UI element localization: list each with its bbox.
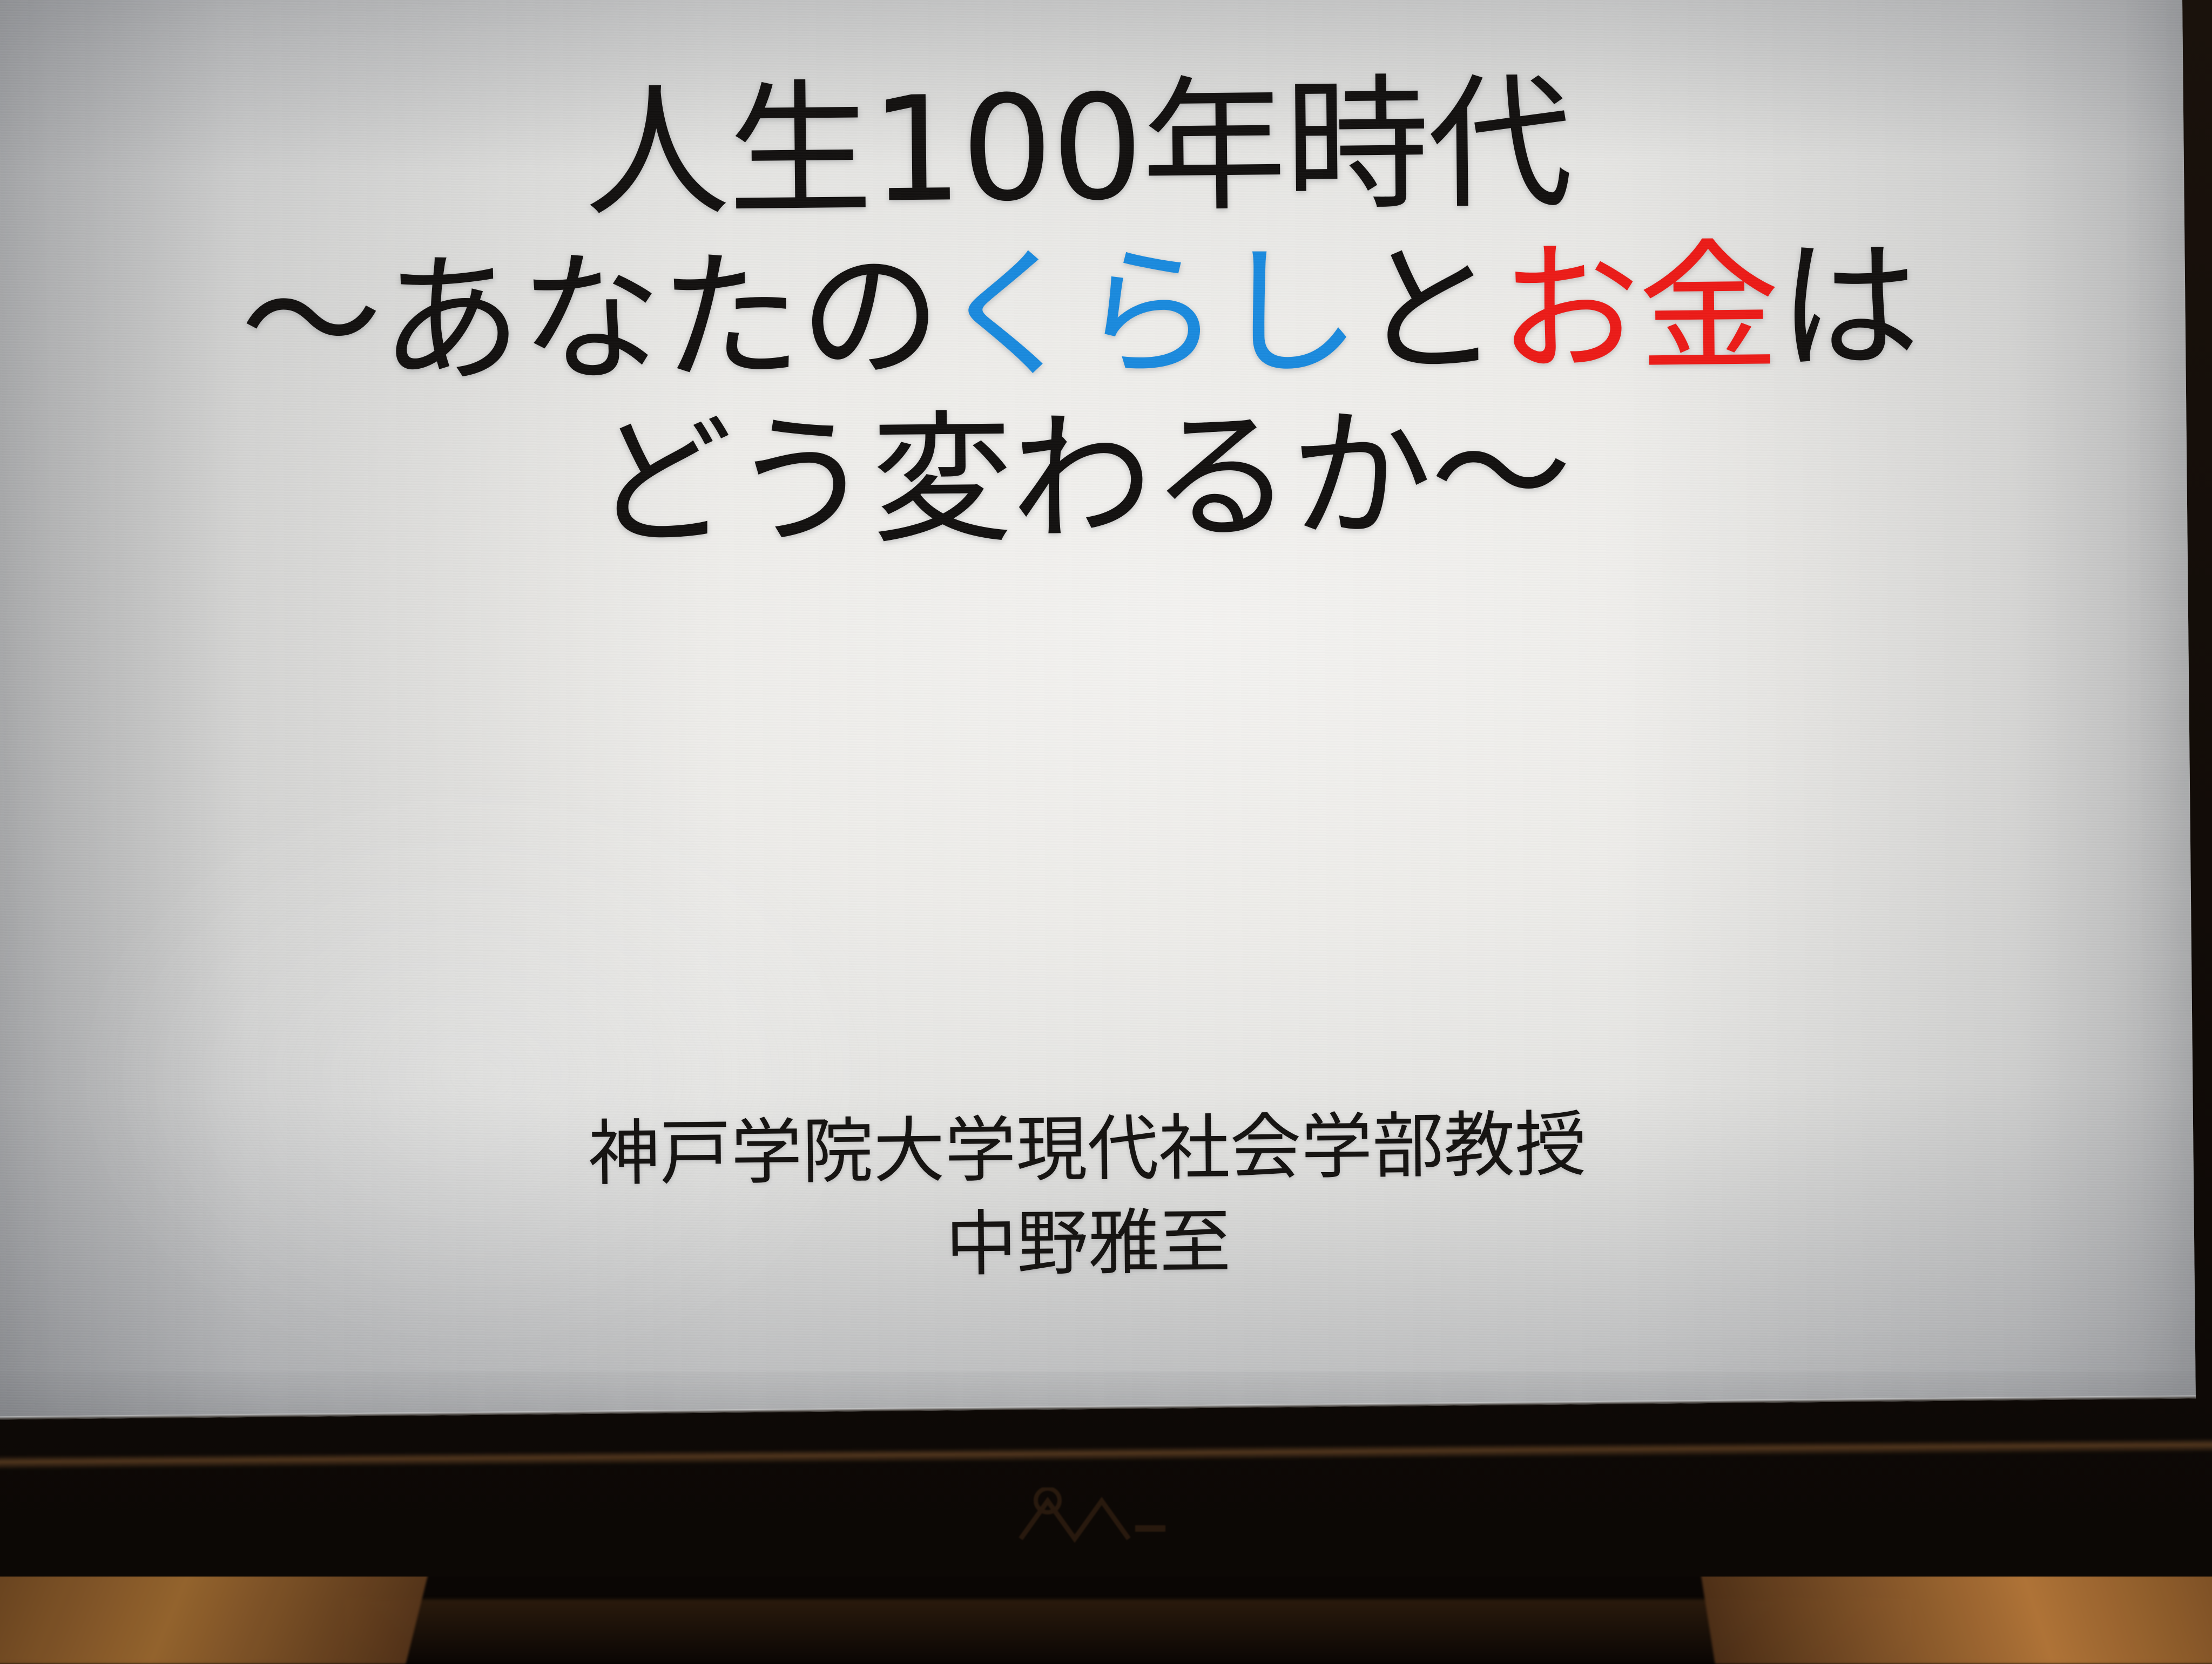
title-line-2-segment-wa: は [1777, 224, 1919, 390]
slide-byline: 神戸学院大学現代社会学部教授 中野雅至 [46, 1092, 2130, 1300]
title-line-1: 人生100年時代 [36, 55, 2120, 243]
furniture-shadow [346, 1599, 1912, 1664]
title-line-2-segment-1: 〜あなたの [240, 233, 940, 404]
title-line-2: 〜あなたのくらしとお金は [37, 222, 2121, 407]
tv-brand-logo-icon [1010, 1487, 1172, 1552]
title-line-3-segment-1: どう変わるか〜 [591, 391, 1571, 565]
title-line-2-segment-to: と [1358, 228, 1500, 394]
title-line-3: どう変わるか〜 [39, 387, 2123, 571]
title-line-2-segment-okane: お金 [1498, 226, 1779, 393]
presenter-name: 中野雅至 [46, 1186, 2129, 1300]
presentation-slide: 人生100年時代 〜あなたのくらしとお金は どう変わるか〜 神戸学院大学現代社会… [0, 0, 2196, 1420]
title-line-1-segment-1: 人生100年時代 [584, 59, 1572, 238]
bezel-lower-lip [0, 1438, 2212, 1470]
television-chassis: 人生100年時代 〜あなたのくらしとお金は どう変わるか〜 神戸学院大学現代社会… [0, 0, 2212, 1577]
television-screen: 人生100年時代 〜あなたのくらしとお金は どう変わるか〜 神戸学院大学現代社会… [0, 0, 2196, 1420]
slide-spacer [41, 551, 2128, 1112]
title-line-2-segment-kurashi: くらし [939, 229, 1359, 398]
slide-title: 人生100年時代 〜あなたのくらしとお金は どう変わるか〜 [36, 55, 2123, 571]
